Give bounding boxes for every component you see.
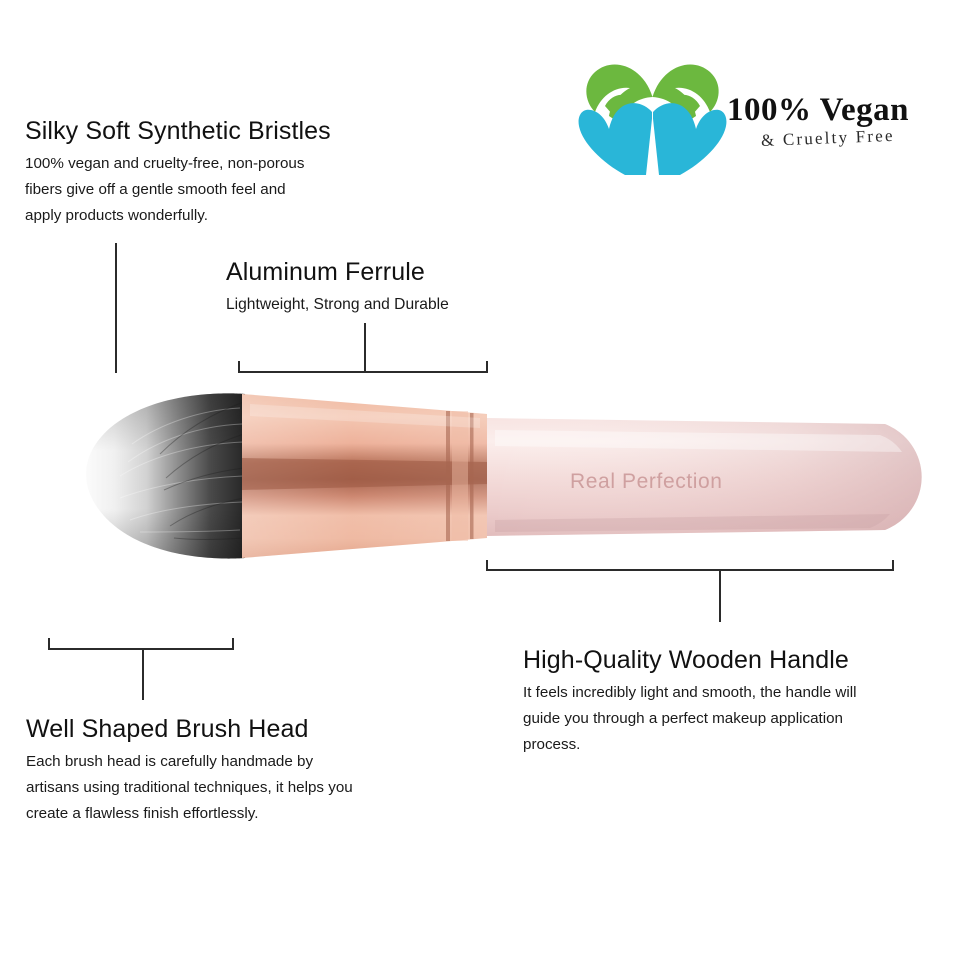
feature-body-brush-head: Each brush head is carefully handmade by… [26,749,353,827]
bracket-tick-ferrule-right [486,361,488,372]
leader-stem-brush-head [142,648,144,700]
feature-body-line: 100% vegan and cruelty-free, non-porous [25,151,331,177]
bracket-tick-handle-left [486,560,488,570]
brush-head [86,393,245,558]
bracket-tick-brush-head-right [232,638,234,649]
leader-line-bristles [115,243,117,373]
product-infographic: 100% Vegan & Cruelty Free Silky Soft Syn… [0,0,960,960]
badge-secondary-text: & Cruelty Free [761,126,928,149]
feature-well-shaped-brush-head: Well Shaped Brush Head Each brush head i… [26,715,353,827]
feature-body-line: process. [523,732,856,758]
feature-body-line: fibers give off a gentle smooth feel and [25,177,331,203]
feature-high-quality-wooden-handle: High-Quality Wooden Handle It feels incr… [523,646,856,758]
bracket-bar-handle [486,569,894,571]
bracket-tick-brush-head-left [48,638,50,649]
feature-body-line: Lightweight, Strong and Durable [226,295,449,315]
feature-body-line: It feels incredibly light and smooth, th… [523,680,856,706]
handle-brand-text: Real Perfection [570,470,723,494]
feature-title-bristles: Silky Soft Synthetic Bristles [25,117,331,146]
feature-body-line: create a flawless finish effortlessly. [26,801,353,827]
bracket-bar-ferrule [238,371,488,373]
feature-body-ferrule: Lightweight, Strong and Durable [226,295,449,315]
feature-title-handle: High-Quality Wooden Handle [523,646,856,675]
feature-body-line: artisans using traditional techniques, i… [26,775,353,801]
hand-left [579,103,652,175]
feature-body-handle: It feels incredibly light and smooth, th… [523,680,856,758]
badge-primary-text: 100% Vegan [727,94,927,127]
brush-ferrule [242,394,487,558]
feature-silky-soft-synthetic-bristles: Silky Soft Synthetic Bristles 100% vegan… [25,117,331,229]
leader-stem-handle [719,569,721,622]
hand-right [653,103,726,175]
makeup-brush-product-image [40,380,955,580]
feature-aluminum-ferrule: Aluminum Ferrule Lightweight, Strong and… [226,258,449,315]
feature-body-bristles: 100% vegan and cruelty-free, non-porous … [25,151,331,229]
bracket-tick-handle-right [892,560,894,570]
badge-text-group: 100% Vegan & Cruelty Free [727,94,927,149]
leader-stem-ferrule [364,323,366,373]
vegan-hands-heart-logo-icon [575,50,730,175]
bracket-tick-ferrule-left [238,361,240,372]
feature-body-line: Each brush head is carefully handmade by [26,749,353,775]
feature-body-line: apply products wonderfully. [25,203,331,229]
vegan-cruelty-free-badge: 100% Vegan & Cruelty Free [575,50,925,175]
feature-body-line: guide you through a perfect makeup appli… [523,706,856,732]
bracket-bar-brush-head [48,648,234,650]
feature-title-brush-head: Well Shaped Brush Head [26,715,353,744]
feature-title-ferrule: Aluminum Ferrule [226,258,449,287]
